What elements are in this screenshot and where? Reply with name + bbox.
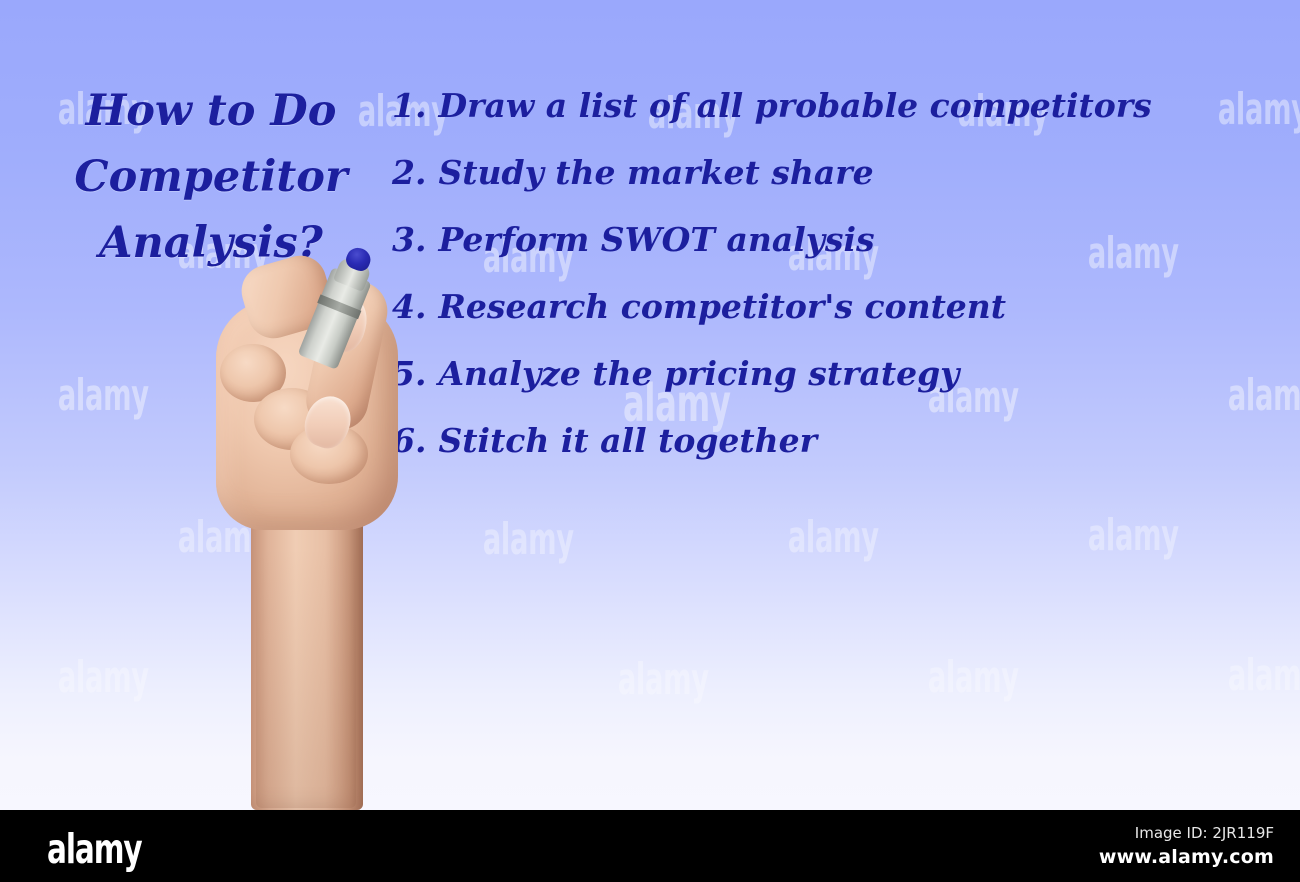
step-text: Analyze the pricing strategy (438, 354, 959, 393)
headline-line-1: How to Do (46, 78, 376, 144)
list-item: 1. Draw a list of all probable competito… (392, 86, 1262, 153)
screenshot-root: alamy alamy alamy alamy alamy alamy alam… (0, 0, 1300, 882)
stock-photo-canvas: alamy alamy alamy alamy alamy alamy alam… (0, 0, 1300, 810)
forearm-shading (256, 548, 356, 808)
headline-line-2: Competitor (46, 144, 376, 210)
steps-list: 1. Draw a list of all probable competito… (392, 86, 1262, 488)
step-text: Stitch it all together (438, 421, 817, 460)
watermark-alamy: alamy (58, 370, 149, 421)
watermark-alamy: alamy (1088, 510, 1179, 561)
watermark-alamy: alamy (618, 654, 709, 705)
list-item: 6. Stitch it all together (392, 421, 1262, 488)
step-number: 2. (392, 153, 426, 192)
alamy-url-label: www.alamy.com (1099, 844, 1274, 870)
footer-right-block: Image ID: 2JR119F www.alamy.com (1099, 822, 1274, 870)
step-text: Study the market share (438, 153, 873, 192)
list-item: 4. Research competitor's content (392, 287, 1262, 354)
watermark-alamy: alamy (58, 652, 149, 703)
step-text: Draw a list of all probable competitors (438, 86, 1151, 125)
step-number: 1. (392, 86, 426, 125)
list-item: 3. Perform SWOT analysis (392, 220, 1262, 287)
watermark-alamy: alamy (483, 514, 574, 565)
hand-holding-marker (196, 248, 426, 810)
alamy-footer-bar: alamy Image ID: 2JR119F www.alamy.com (0, 810, 1300, 882)
step-text: Research competitor's content (438, 287, 1006, 326)
alamy-logo: alamy (47, 825, 142, 873)
list-item: 5. Analyze the pricing strategy (392, 354, 1262, 421)
step-text: Perform SWOT analysis (438, 220, 874, 259)
image-id-label: Image ID: 2JR119F (1099, 822, 1274, 844)
headline-title: How to Do Competitor Analysis? (46, 78, 376, 276)
list-item: 2. Study the market share (392, 153, 1262, 220)
watermark-alamy: alamy (928, 652, 1019, 703)
watermark-alamy: alamy (788, 512, 879, 563)
watermark-alamy: alamy (1228, 650, 1300, 701)
